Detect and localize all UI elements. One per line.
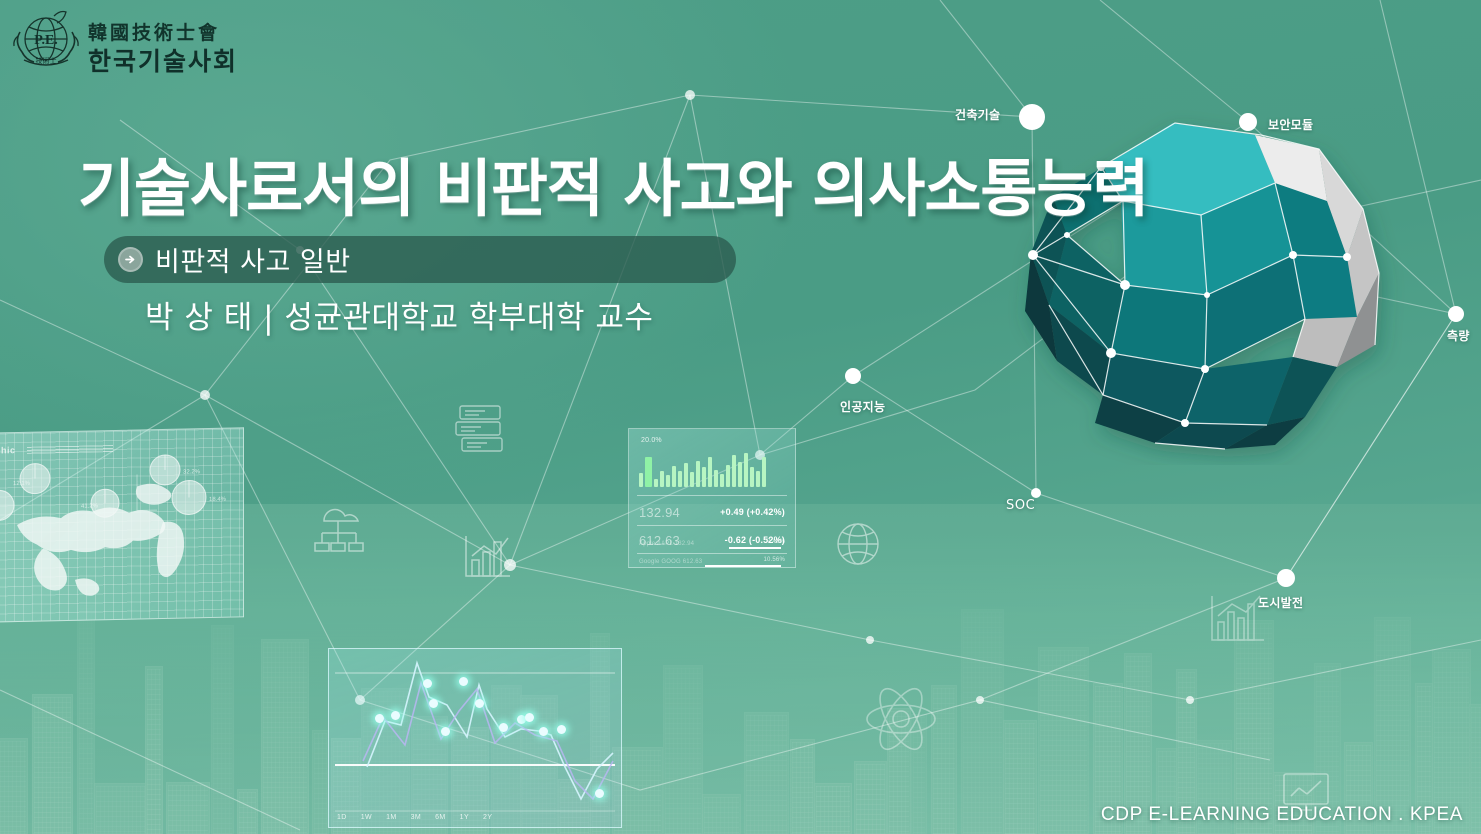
atom-icon: [862, 680, 940, 758]
divider: [637, 495, 787, 496]
speaker-line: 박 상 태 | 성균관대학교 학부대학 교수: [145, 292, 653, 337]
svg-text:18.4%: 18.4%: [209, 497, 227, 503]
bar: [660, 471, 664, 487]
timeframe-selector[interactable]: 1D1W1M3M6M1Y2Y: [337, 814, 492, 821]
node-label: 도시발전: [1258, 594, 1303, 611]
timeframe-1y[interactable]: 1Y: [460, 814, 469, 821]
data-point: [595, 789, 604, 798]
bar: [672, 466, 676, 487]
chapter-label: 비판적 사고 일반: [155, 240, 351, 279]
node-dot: [1277, 569, 1295, 587]
page-title: 기술사로서의 비판적 사고와 의사소통능력: [78, 138, 1148, 228]
node-dot: [1019, 104, 1045, 130]
bar: [732, 455, 736, 487]
node-label: 건축기술: [955, 106, 1000, 123]
node-dot: [1031, 488, 1041, 498]
pe-globe-laurel-emblem: P.E. 技術士: [8, 6, 84, 78]
data-point: [375, 714, 384, 723]
timeframe-1w[interactable]: 1W: [361, 814, 372, 821]
bar: [645, 457, 652, 487]
bar: [738, 462, 742, 487]
bar: [666, 475, 670, 487]
meter-label-1: Google GOOG 612.63: [639, 559, 702, 565]
bar: [720, 474, 724, 487]
bar: [762, 457, 766, 487]
bar: [726, 465, 730, 487]
node-label: 보안모듈: [1268, 116, 1313, 133]
timeframe-2y[interactable]: 2Y: [483, 814, 492, 821]
divider: [637, 553, 787, 554]
node-dot: [1448, 306, 1464, 322]
meter-bar-1: [705, 565, 781, 567]
bar: [708, 457, 712, 487]
node-label: 측량: [1447, 327, 1470, 344]
bar: [714, 470, 718, 487]
data-point: [441, 727, 450, 736]
chapter-pill[interactable]: 비판적 사고 일반: [104, 236, 736, 283]
meter-bar-0: [729, 547, 781, 549]
data-point: [525, 713, 534, 722]
node-dot: [845, 368, 861, 384]
data-point: [557, 725, 566, 734]
bar: [756, 471, 760, 487]
svg-text:12.1%: 12.1%: [13, 481, 31, 487]
server-stack-icon: [452, 400, 512, 460]
meter-label-0: Apple AAPL 132.94: [639, 541, 694, 547]
node-dot: [1239, 113, 1257, 131]
data-point: [499, 723, 508, 732]
meter-percent-1: 10.56%: [763, 557, 785, 563]
bar: [750, 467, 754, 487]
node-label: SOC: [1006, 498, 1035, 513]
stock-change-0: +0.49 (+0.42%): [720, 507, 785, 517]
data-point: [459, 677, 468, 686]
data-point: [391, 711, 400, 720]
bar-chart-icon: [460, 530, 514, 584]
infographic-map-panel: phic 12.1%41.2% 32.2%18.4%: [0, 427, 244, 622]
timeframe-1d[interactable]: 1D: [337, 814, 347, 821]
node-label: 인공지능: [840, 398, 885, 415]
bar: [690, 472, 694, 487]
stock-dashboard-widget: 20.0% 132.94 +0.49 (+0.42%) 612.63 -0.62…: [628, 428, 796, 568]
footer-text: CDP E-LEARNING EDUCATION . KPEA: [1101, 804, 1463, 826]
logo-pe-text: P.E.: [34, 33, 58, 48]
meter-percent-0: 7.42%: [767, 539, 785, 545]
stock-axis-label: 20.0%: [641, 437, 662, 444]
timeframe-6m[interactable]: 6M: [435, 814, 446, 821]
kpea-logo: P.E. 技術士 韓國技術士會 한국기술사회: [8, 6, 250, 78]
stock-value-0: 132.94: [639, 505, 680, 520]
data-point: [423, 679, 432, 688]
data-point: [539, 727, 548, 736]
bar: [702, 467, 706, 487]
bar: [678, 471, 682, 487]
timeframe-3m[interactable]: 3M: [411, 814, 422, 821]
line-chart-widget: 1D1W1M3M6M1Y2Y: [328, 648, 622, 828]
timeframe-1m[interactable]: 1M: [386, 814, 397, 821]
line-chart-graphic: [329, 649, 621, 827]
svg-text:技術士: 技術士: [36, 56, 57, 65]
bar: [639, 473, 643, 487]
stock-bar-chart: [639, 447, 787, 487]
bar: [696, 461, 700, 487]
logo-hangul: 한국기술사회: [88, 42, 238, 78]
world-map-graphic: 12.1%41.2% 32.2%18.4%: [0, 428, 245, 623]
cloud-network-icon: [310, 495, 374, 555]
data-point: [475, 699, 484, 708]
arrow-right-circle-icon: [118, 247, 143, 272]
bar: [684, 463, 688, 487]
svg-text:32.2%: 32.2%: [183, 469, 201, 475]
slide-canvas: phic 12.1%41.2% 32.2%18.4%: [0, 0, 1481, 834]
globe-wire-icon: [832, 518, 884, 570]
data-point: [429, 699, 438, 708]
logo-hanja: 韓國技術士會: [88, 18, 220, 45]
bar: [744, 453, 748, 487]
svg-text:41.2%: 41.2%: [81, 503, 99, 509]
bar: [654, 479, 658, 487]
divider: [637, 525, 787, 526]
